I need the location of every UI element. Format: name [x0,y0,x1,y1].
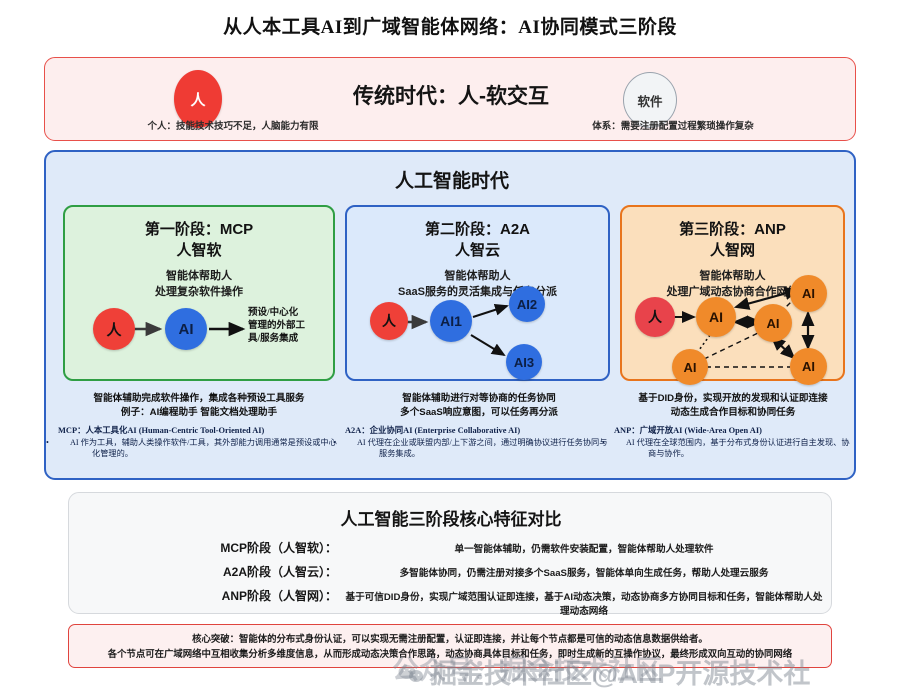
stage-card-a2a[interactable]: 第二阶段：A2A 人智云 智能体帮助人 SaaS服务的灵活集成与任务分派 人 A… [345,205,610,381]
ai-node-d-stage-3: AI [672,349,708,385]
traditional-caption-right: 体系：需要注册配置过程繁琐操作复杂 [523,118,823,132]
traditional-caption-left: 个人：技能技术技巧不足，人脑能力有限 [73,118,393,132]
page-title: 从人本工具AI到广域智能体网络：AI协同模式三阶段 [0,12,900,39]
stage-card-anp[interactable]: 第三阶段：ANP 人智网 智能体帮助人 处理广域动态协商合作网络 [620,205,845,381]
comparison-row-mcp: MCP阶段（人智软）： 单一智能体辅助，仍需软件安装配置，智能体帮助人处理软件 [69,539,833,556]
human-node-stage-3: 人 [635,297,675,337]
stage-1-foot-line1: 智能体辅助完成软件操作，集成各种预设工具服务 [58,392,340,406]
comparison-row-a2a: A2A阶段（人智云）： 多智能体协同，仍需注册对接多个SaaS服务，智能体单向生… [69,563,833,580]
stage-3-foot-line1: 基于DID身份，实现开放的发现和认证即连接 [614,392,852,406]
core-breakthrough-line1: 核心突破：智能体的分布式身份认证，可以实现无需注册配置，认证即连接，并让每个节点… [69,631,831,646]
stage-2-foot-term: A2A：企业协同AI (Enterprise Collaborative AI) [345,424,613,436]
stage-3-foot-bullet: AI 代理在全球范围内，基于分布式身份认证进行自主发现、协商与协作。 [614,437,852,460]
ai2-node-stage-2: AI2 [509,286,545,322]
ai3-node-stage-2: AI3 [506,344,542,380]
comparison-label-anp: ANP阶段（人智网）： [69,587,343,604]
stage-3-foot-line2: 动态生成合作目标和协同任务 [614,406,852,420]
ai1-node-stage-2: AI1 [430,300,472,342]
human-node-stage-1: 人 [93,308,135,350]
stage-card-mcp[interactable]: 第一阶段：MCP 人智软 智能体帮助人 处理复杂软件操作 人 AI 预设/中心化… [63,205,335,381]
stage-2-footnote: 智能体辅助进行对等协商的任务协同 多个SaaS响应意图，可以任务再分派 A2A：… [345,392,613,459]
infographic-page: 从人本工具AI到广域智能体网络：AI协同模式三阶段 传统时代：人-软交互 人 软… [0,0,900,700]
stage-2-foot-bullet: AI 代理在企业或联盟内部/上下游之间，通过明确协议进行任务协同与服务集成。 [345,437,613,460]
stage-2-connectors [347,207,612,383]
stage-3-footnote: 基于DID身份，实现开放的发现和认证即连接 动态生成合作目标和协同任务 ANP：… [614,392,852,459]
comparison-value-a2a: 多智能体协同，仍需注册对接多个SaaS服务，智能体单向生成任务，帮助人处理云服务 [343,565,833,579]
ai-node-e-stage-3: AI [790,348,827,385]
stage-1-connectors [65,207,337,383]
ai-node-a-stage-3: AI [696,297,736,337]
comparison-label-a2a: A2A阶段（人智云）： [69,563,343,580]
comparison-value-mcp: 单一智能体辅助，仍需软件安装配置，智能体帮助人处理软件 [343,541,833,555]
stage-1-foot-bullet: AI 作为工具，辅助人类操作软件/工具，其外部能力调用通常是预设或中心化管理的。 [58,437,340,460]
comparison-title: 人工智能三阶段核心特征对比 [69,505,833,530]
ai-node-c-stage-3: AI [754,304,792,342]
stage-2-foot-line2: 多个SaaS响应意图，可以任务再分派 [345,406,613,420]
stage-2-foot-line1: 智能体辅助进行对等协商的任务协同 [345,392,613,406]
traditional-era-band: 传统时代：人-软交互 人 软件 个人：技能技术技巧不足，人脑能力有限 体系：需要… [44,57,856,141]
comparison-panel: 人工智能三阶段核心特征对比 MCP阶段（人智软）： 单一智能体辅助，仍需软件安装… [68,492,832,614]
stage-1-side-note: 预设/中心化管理的外部工具/服务集成 [248,307,332,345]
core-breakthrough-box: 核心突破：智能体的分布式身份认证，可以实现无需注册配置，认证即连接，并让每个节点… [68,624,832,668]
stage-1-foot-term: MCP：人本工具化AI (Human-Centric Tool-Oriented… [58,424,340,436]
human-node-stage-2: 人 [370,302,408,340]
comparison-value-anp: 基于可信DID身份，实现广域范围认证即连接，基于AI动态决策，动态协商多方协同目… [343,589,833,617]
ai-node-b-stage-3: AI [790,275,827,312]
stage-3-foot-term: ANP：广域开放AI (Wide-Area Open AI) [614,424,852,436]
comparison-row-anp: ANP阶段（人智网）： 基于可信DID身份，实现广域范围认证即连接，基于AI动态… [69,587,833,617]
traditional-era-title: 传统时代：人-软交互 [45,80,857,110]
ai-node-stage-1: AI [165,308,207,350]
stage-1-footnote: 智能体辅助完成软件操作，集成各种预设工具服务 例子：AI编程助手 智能文档处理助… [58,392,340,459]
stage-1-foot-line2: 例子：AI编程助手 智能文档处理助手 [58,406,340,420]
comparison-label-mcp: MCP阶段（人智软）： [69,539,343,556]
core-breakthrough-line2: 各个节点可在广域网络中互相收集分析多维度信息，从而形成动态决策合作思路，动态协商… [69,646,831,661]
ai-era-title: 人工智能时代 [46,166,858,193]
